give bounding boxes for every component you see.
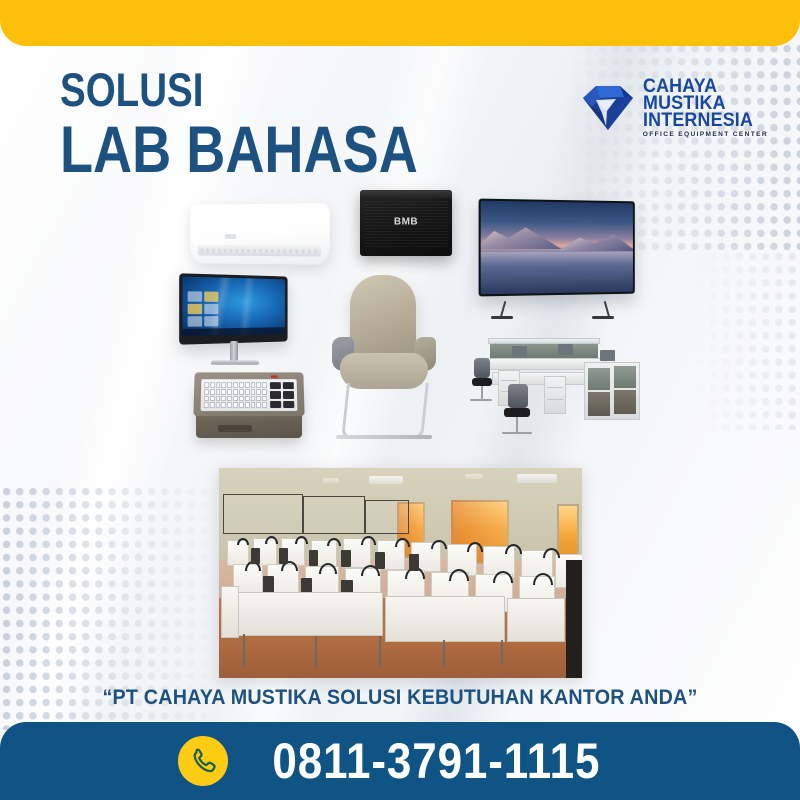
console-pad-grid xyxy=(270,382,294,408)
photo-glass-partition xyxy=(303,496,365,534)
monitor-tile xyxy=(204,292,218,303)
photo-desk-front xyxy=(237,592,383,636)
monitor-screen xyxy=(182,277,285,337)
speaker-cabinet: BMB xyxy=(360,190,452,256)
workstation-screen-rear xyxy=(490,342,598,358)
product-air-conditioner xyxy=(188,204,328,264)
photo-desk-leg xyxy=(379,636,381,666)
photo-glass-partition xyxy=(223,494,303,534)
phone-handset-icon[interactable] xyxy=(178,736,228,786)
console-control-panel xyxy=(201,379,298,411)
poster-canvas: SOLUSI LAB BAHASA CAHAYA MUSTIKA INTERNE… xyxy=(0,0,800,800)
heading-line-2: LAB BAHASA xyxy=(60,118,418,180)
photo-ceiling-sign xyxy=(323,478,339,483)
monitor-base xyxy=(210,360,259,364)
photo-desk-front xyxy=(221,586,239,638)
photo-terminal-unit xyxy=(251,548,260,564)
ac-body xyxy=(190,203,329,265)
photo-desk-leg xyxy=(243,634,245,666)
workstation-cubicle-fabric xyxy=(614,390,636,414)
ac-brand-mark xyxy=(225,234,237,239)
product-collage: BMB xyxy=(180,190,650,455)
monitor-taskbar xyxy=(182,327,285,336)
console-top-face xyxy=(193,372,304,416)
monitor-start-tiles xyxy=(188,291,219,326)
speaker-top-cap xyxy=(360,190,452,199)
photo-glass-partition xyxy=(365,500,409,534)
workstation-chair-post xyxy=(516,417,518,433)
photo-terminal-unit xyxy=(341,550,351,567)
workstation-monitor xyxy=(558,344,573,355)
workstation-monitor xyxy=(600,350,615,361)
workstation-chair-base xyxy=(502,432,532,434)
tv-panel xyxy=(479,199,635,297)
logo-word-3: INTERNESIA xyxy=(643,112,761,129)
photo-right-edge-shadow xyxy=(566,560,582,678)
photo-terminal-unit xyxy=(279,548,288,564)
phone-number[interactable]: 0811-3791-1115 xyxy=(272,736,600,786)
workstation-pedestal xyxy=(544,376,566,414)
monitor-tile xyxy=(188,291,203,302)
workstation-cubicle-fabric xyxy=(588,368,610,390)
tv-foot-right xyxy=(592,316,614,319)
page-title: SOLUSI LAB BAHASA xyxy=(60,68,496,180)
tv-screen xyxy=(481,201,633,295)
photo-terminal-unit xyxy=(375,552,385,569)
top-accent-bar xyxy=(0,0,800,46)
tagline-quote: “PT CAHAYA MUSTIKA SOLUSI KEBUTUHAN KANT… xyxy=(24,686,776,710)
workstation-chair-seat xyxy=(504,408,530,417)
photo-headset xyxy=(237,538,249,545)
product-console xyxy=(194,372,306,444)
monitor-tile xyxy=(188,316,203,327)
console-slot xyxy=(218,425,252,432)
monitor-tile xyxy=(204,304,218,315)
speaker-brand-label: BMB xyxy=(394,216,418,227)
workstation-monitor xyxy=(512,346,527,357)
workstation-chair-base xyxy=(470,399,492,401)
console-key-grid xyxy=(204,382,267,408)
workstation-cubicle-fabric xyxy=(614,366,636,388)
monitor-tile xyxy=(204,316,218,327)
contact-bar: 0811-3791-1115 xyxy=(0,722,800,800)
photo-desk-front xyxy=(385,596,505,642)
photo-terminal-unit xyxy=(409,554,419,571)
workstation-chair-back xyxy=(508,384,528,408)
monitor-neck xyxy=(230,341,238,361)
photo-desk-leg xyxy=(443,640,445,666)
language-lab-photo xyxy=(219,468,582,678)
photo-desk-leg xyxy=(315,636,317,668)
photo-terminal-unit xyxy=(309,550,318,566)
tv-image-mountain-left xyxy=(481,225,562,249)
tv-image-lake xyxy=(481,252,633,294)
tv-foot-left xyxy=(491,316,513,319)
console-power-led xyxy=(271,375,278,377)
brand-logo: CAHAYA MUSTIKA INTERNESIA OFFICE EQUIPME… xyxy=(581,78,768,138)
logo-tagline: OFFICE EQUIPMENT CENTER xyxy=(643,132,768,138)
tv-image-mountain-right xyxy=(559,231,633,251)
chair-glide xyxy=(336,435,432,439)
photo-desk-leg xyxy=(501,640,503,664)
workstation-chair-post xyxy=(481,386,483,400)
chair-cantilever-frame xyxy=(341,383,429,439)
phone-handset-glyph xyxy=(189,747,217,775)
product-workstation xyxy=(468,328,643,440)
dot-pattern-mid-right xyxy=(680,250,800,430)
product-speaker: BMB xyxy=(360,190,452,256)
heading-line-1: SOLUSI xyxy=(60,68,418,112)
workstation-chair-back xyxy=(474,358,490,378)
product-television xyxy=(480,200,640,318)
monitor-bezel xyxy=(179,273,287,344)
workstation-cubicle-fabric xyxy=(588,392,610,416)
photo-ceiling-sign xyxy=(465,474,483,479)
monitor-tile xyxy=(188,304,203,315)
logo-wordmark: CAHAYA MUSTIKA INTERNESIA OFFICE EQUIPME… xyxy=(643,78,768,138)
photo-ceiling-ac xyxy=(369,476,403,484)
workstation-chair-seat xyxy=(472,378,492,386)
photo-desk-front xyxy=(507,598,565,642)
diamond-gem-icon xyxy=(581,83,635,133)
workstation-screen-cap xyxy=(488,338,600,344)
product-monitor xyxy=(180,275,302,373)
photo-ceiling-ac xyxy=(517,474,557,483)
product-office-chair xyxy=(328,275,448,443)
